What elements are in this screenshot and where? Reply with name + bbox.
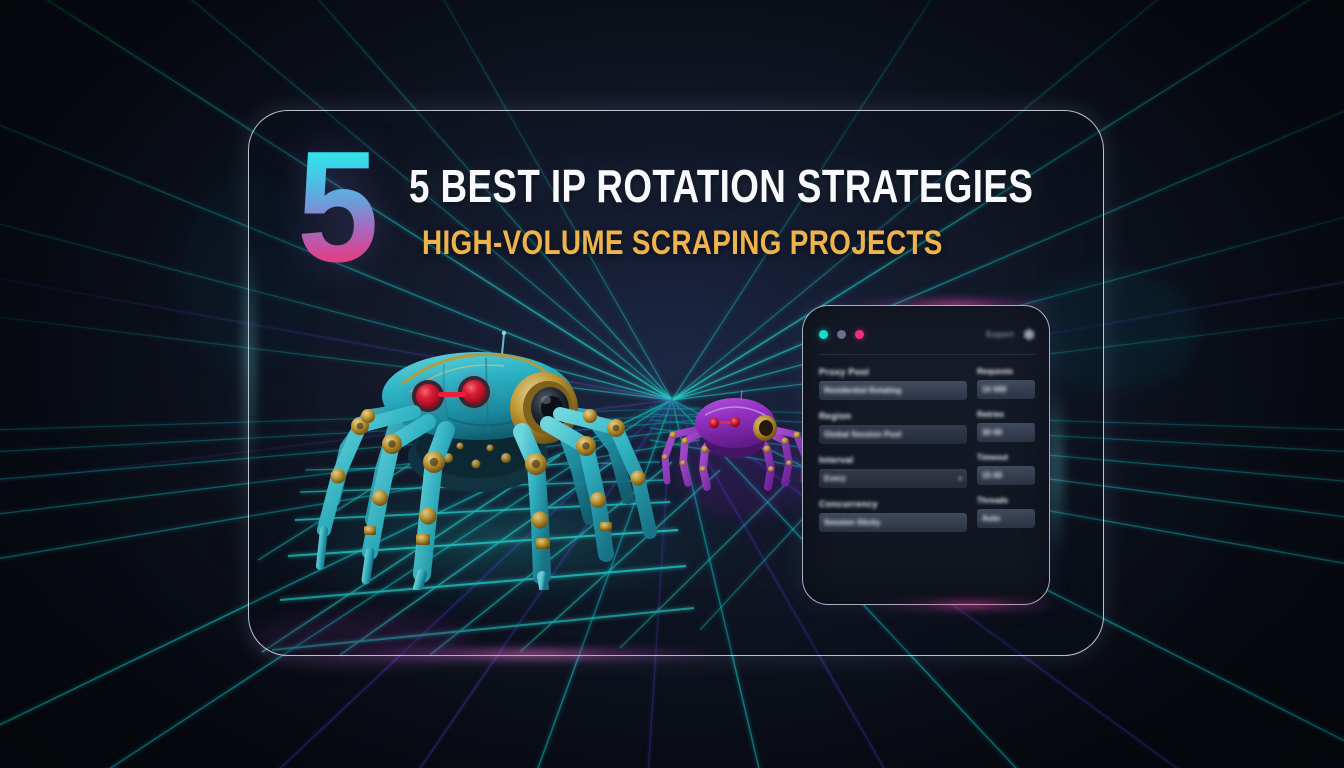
- field-value: 10 000: [982, 385, 1006, 394]
- field-group: Requests 10 000: [977, 367, 1035, 399]
- field-value: Auto: [982, 514, 1000, 523]
- field-input[interactable]: Auto: [977, 509, 1035, 528]
- field-input[interactable]: Residential Rotating: [819, 381, 967, 400]
- field-label: Retries: [977, 410, 1035, 419]
- panel-header-label[interactable]: Export: [986, 330, 1014, 339]
- window-dot-purple[interactable]: [837, 330, 846, 339]
- field-input[interactable]: Every ▾: [819, 469, 967, 488]
- field-input[interactable]: 10 000: [977, 380, 1035, 399]
- field-input[interactable]: 15 00: [977, 466, 1035, 485]
- page-title: 5 BEST IP ROTATION STRATEGIES: [409, 159, 1033, 213]
- panel-left-column: Proxy Pool Residential Rotating Region G…: [819, 367, 967, 543]
- field-input[interactable]: 30 00: [977, 423, 1035, 442]
- field-label: Threads: [977, 496, 1035, 505]
- chevron-down-icon[interactable]: ▾: [958, 475, 962, 483]
- field-group: Timeout 15 00: [977, 453, 1035, 485]
- field-group: Interval Every ▾: [819, 455, 967, 488]
- field-value: Session Sticky: [824, 518, 880, 527]
- panel-body: Proxy Pool Residential Rotating Region G…: [819, 367, 1035, 543]
- field-label: Region: [819, 411, 967, 421]
- card-left-glow: [239, 231, 261, 491]
- field-label: Interval: [819, 455, 967, 465]
- field-group: Threads Auto: [977, 496, 1035, 528]
- field-group: Region Global Session Pool: [819, 411, 967, 444]
- field-group: Retries 30 00: [977, 410, 1035, 442]
- field-value: 15 00: [982, 471, 1002, 480]
- field-label: Requests: [977, 367, 1035, 376]
- panel-header-actions[interactable]: Export: [986, 328, 1035, 341]
- field-value: Every: [824, 474, 846, 483]
- field-input[interactable]: Session Sticky: [819, 513, 967, 532]
- page-subtitle: HIGH-VOLUME SCRAPING PROJECTS: [422, 224, 943, 263]
- settings-panel[interactable]: Export Proxy Pool Residential Rotating: [802, 305, 1050, 605]
- window-dot-cyan[interactable]: [819, 330, 828, 339]
- panel-divider: [819, 354, 1035, 355]
- hero-numeral: 5: [297, 135, 375, 280]
- panel-titlebar: Export: [819, 324, 1035, 344]
- field-group: Proxy Pool Residential Rotating: [819, 367, 967, 400]
- window-dot-pink[interactable]: [855, 330, 864, 339]
- field-value: Global Session Pool: [824, 430, 901, 439]
- field-label: Timeout: [977, 453, 1035, 462]
- field-label: Concurrency: [819, 499, 967, 509]
- field-value: 30 00: [982, 428, 1002, 437]
- window-controls[interactable]: [819, 330, 864, 339]
- gear-icon[interactable]: [1022, 328, 1035, 341]
- field-group: Concurrency Session Sticky: [819, 499, 967, 532]
- panel-right-column: Requests 10 000 Retries 30 00 Timeout 15…: [977, 367, 1035, 543]
- field-value: Residential Rotating: [824, 386, 901, 395]
- field-label: Proxy Pool: [819, 367, 967, 377]
- field-input[interactable]: Global Session Pool: [819, 425, 967, 444]
